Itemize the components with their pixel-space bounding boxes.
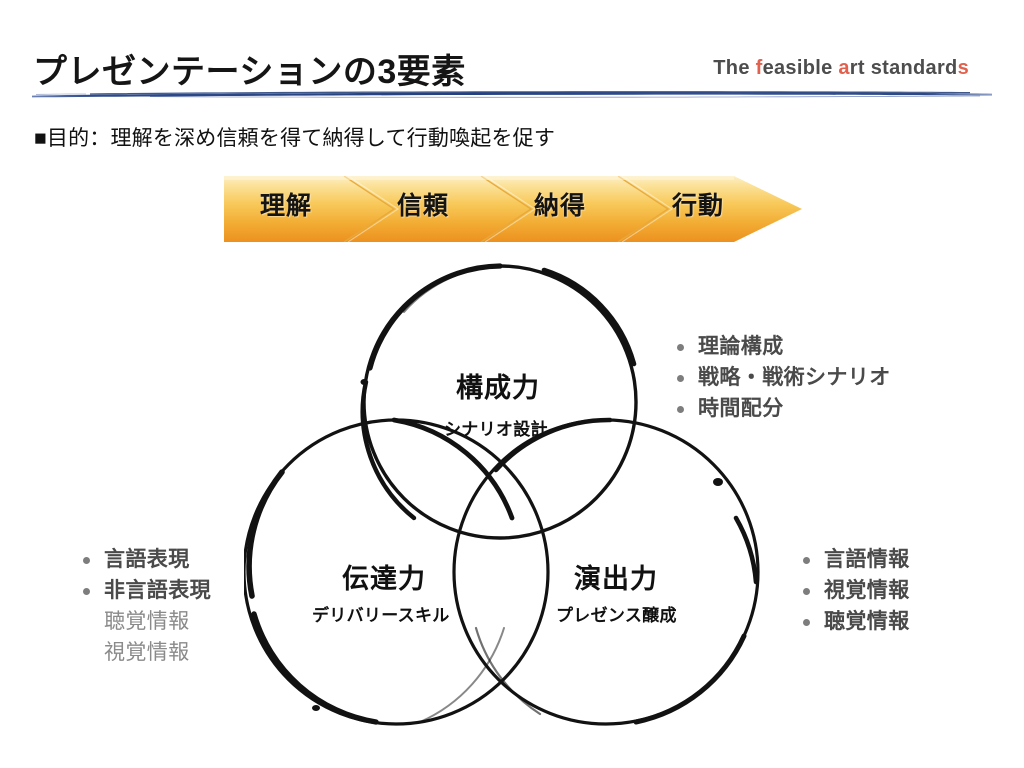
brand-logo-part-3: a — [838, 57, 849, 79]
venn-diagram — [244, 256, 772, 752]
title-brush-rule — [30, 86, 994, 100]
slide-canvas: プレゼンテーションの3要素 The feasible art standards… — [0, 0, 1024, 768]
process-step-label-1: 理解 — [260, 186, 312, 222]
venn-label-right-sub: プレゼンス醸成 — [556, 601, 677, 626]
purpose-statement: ■目的：理解を深め信頼を得て納得して行動喚起を促す — [34, 122, 555, 152]
list-item: 視覚情報 — [798, 576, 910, 607]
list-item: 時間配分 — [672, 394, 891, 425]
list-item: 聴覚情報 — [798, 607, 910, 638]
process-step-label-4: 行動 — [672, 186, 724, 222]
process-step-label-3: 納得 — [534, 186, 586, 222]
brand-logo-part-1: f — [756, 57, 763, 79]
list-item: 戦略・戦術シナリオ — [672, 363, 891, 394]
list-item: 視覚情報 — [78, 638, 211, 669]
brand-logo-part-4: rt standard — [850, 57, 958, 79]
process-step-label-2: 信頼 — [397, 186, 449, 222]
list-item: 言語表現 — [78, 545, 211, 576]
bullet-list-composition: 理論構成戦略・戦術シナリオ時間配分 — [672, 332, 891, 425]
brand-logo-part-0: The — [713, 57, 755, 79]
bullet-list-presence: 言語情報視覚情報聴覚情報 — [798, 545, 910, 638]
bullet-list-delivery: 言語表現非言語表現聴覚情報視覚情報 — [78, 545, 211, 668]
venn-label-left-sub: デリバリースキル — [312, 601, 450, 626]
brand-logo-part-5: s — [958, 57, 969, 79]
venn-label-left-title: 伝達力 — [342, 557, 426, 596]
venn-label-top-title: 構成力 — [456, 366, 540, 405]
venn-label-right-title: 演出力 — [574, 557, 658, 596]
list-item: 聴覚情報 — [78, 607, 211, 638]
list-item: 非言語表現 — [78, 576, 211, 607]
list-item: 言語情報 — [798, 545, 910, 576]
venn-label-top-sub: シナリオ設計 — [444, 415, 548, 440]
brand-logo-part-2: easible — [763, 57, 839, 79]
list-item: 理論構成 — [672, 332, 891, 363]
brand-logo: The feasible art standards — [713, 57, 969, 80]
